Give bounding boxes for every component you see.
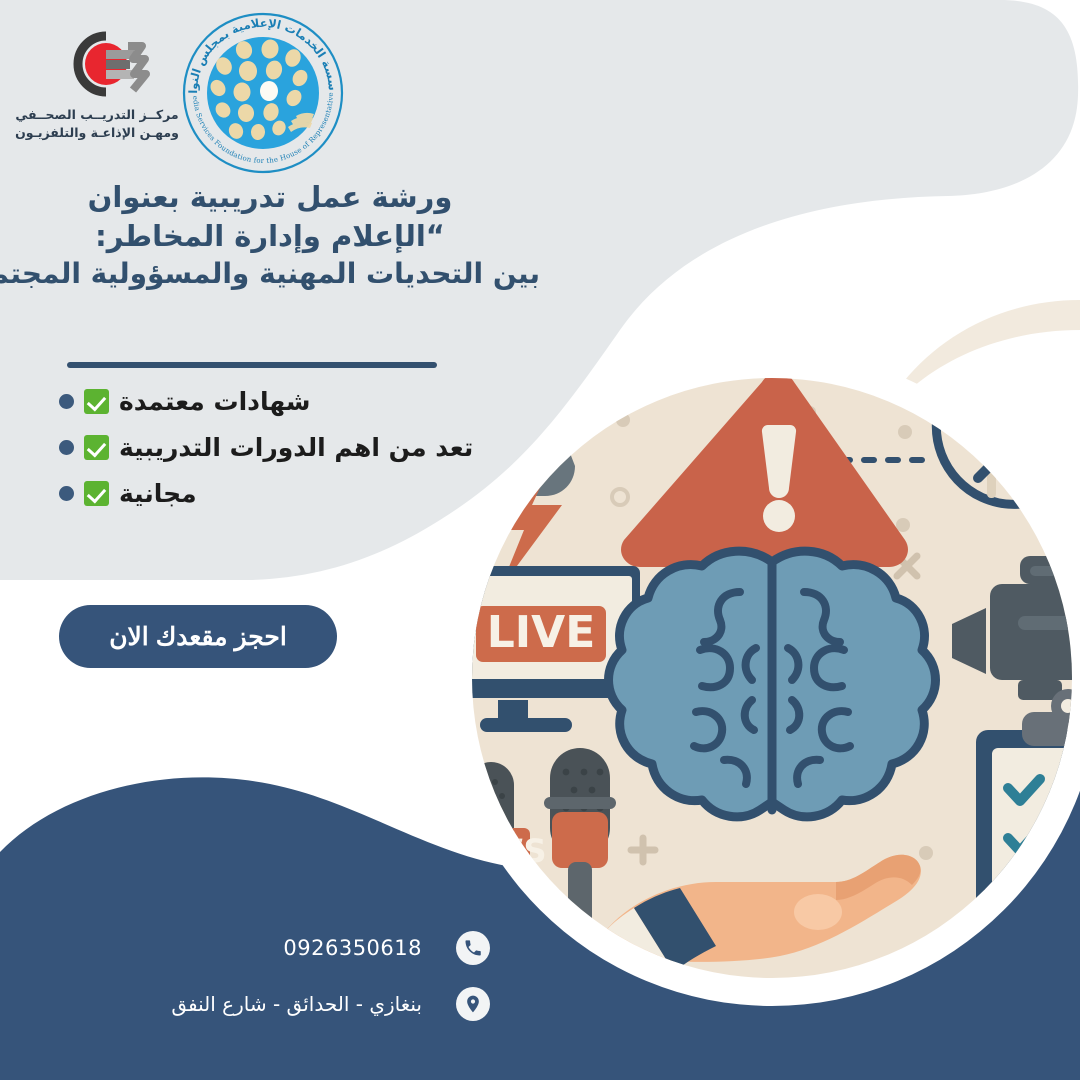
list-item-label: تعد من اهم الدورات التدريبية [119, 433, 473, 462]
logo-caption-line2: ومهـن الإذاعـة والتلفزيـون [12, 124, 182, 142]
contact-phone-value: 0926350618 [283, 936, 456, 960]
check-mark-icon [84, 481, 109, 506]
list-item-label: شهادات معتمدة [119, 387, 310, 416]
list-item: تعد من اهم الدورات التدريبية [55, 424, 455, 470]
bullet-dot-icon [59, 486, 74, 501]
contact-block: 0926350618 بنغازي - الحدائق - شارع النفق [60, 920, 490, 1032]
list-item: مجانية [55, 470, 455, 516]
features-list: شهادات معتمدة تعد من اهم الدورات التدريب… [55, 378, 455, 516]
contact-phone-row[interactable]: 0926350618 [60, 920, 490, 976]
contact-address-value: بنغازي - الحدائق - شارع النفق [171, 992, 456, 1016]
media-services-foundation-emblem: مؤسسة الخدمات الإعلامية بمجلس النواب Med… [178, 8, 348, 178]
page-title: ورشة عمل تدريبية بعنوان “الإعلام وإدارة … [0, 178, 540, 292]
press-training-center-mark [62, 30, 152, 100]
logo-row: مركــز التدريــب الصحــفي ومهـن الإذاعـة… [0, 0, 420, 190]
title-divider [67, 362, 437, 368]
headline-line-3: بين التحديات المهنية والمسؤولية المجتمعي… [0, 255, 540, 292]
check-mark-icon [84, 435, 109, 460]
logo-caption-line1: مركــز التدريــب الصحــفي [12, 106, 182, 124]
bullet-dot-icon [59, 440, 74, 455]
headline-line-1: ورشة عمل تدريبية بعنوان [0, 178, 540, 217]
brain-icon [609, 551, 936, 817]
bullet-dot-icon [59, 394, 74, 409]
list-item-label: مجانية [119, 479, 197, 508]
live-badge-text: LIVE [487, 607, 596, 658]
press-training-center-caption: مركــز التدريــب الصحــفي ومهـن الإذاعـة… [12, 106, 182, 142]
list-item: شهادات معتمدة [55, 378, 455, 424]
news-badge-text: NEWS [440, 832, 547, 870]
location-pin-icon [456, 987, 490, 1021]
headline-line-2: “الإعلام وإدارة المخاطر: [0, 217, 540, 256]
growth-chart-icon [936, 348, 1077, 504]
phone-icon [456, 931, 490, 965]
press-training-center-logo: مركــز التدريــب الصحــفي ومهـن الإذاعـة… [12, 28, 182, 158]
contact-address-row[interactable]: بنغازي - الحدائق - شارع النفق [60, 976, 490, 1032]
poster-canvas: LIVE NEWS [0, 0, 1080, 1080]
clipboard-checklist-icon [976, 689, 1080, 966]
book-seat-button[interactable]: احجز مقعدك الان [59, 605, 337, 668]
check-mark-icon [84, 389, 109, 414]
